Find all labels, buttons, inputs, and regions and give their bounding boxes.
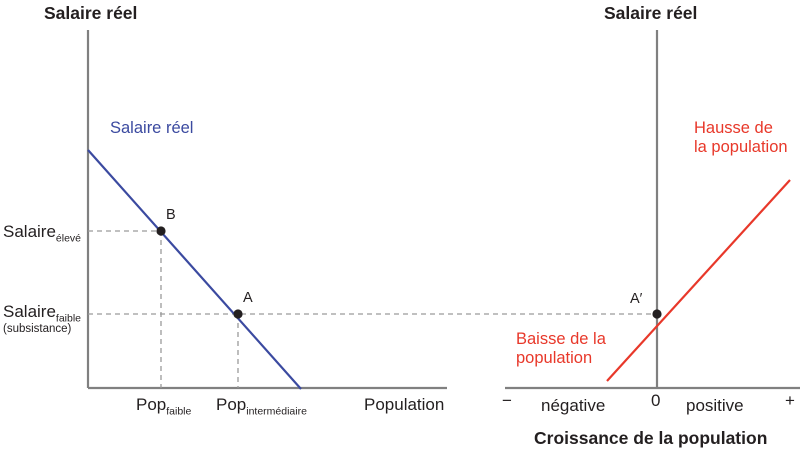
x-label-negative: négative [541,396,605,416]
y-label-salaire-faible: Salairefaible [3,302,81,324]
point-a-prime-label: A′ [630,291,642,308]
x-axis-minus-sign: − [502,391,512,411]
point-a-prime-marker [652,309,661,318]
left-x-axis-name: Population [364,395,444,415]
real-wage-curve-label: Salaire réel [110,119,193,138]
y-label-salaire-eleve: Salaireélevé [3,222,81,244]
right-x-axis-title: Croissance de la population [534,428,767,448]
population-growth-curve [607,180,790,381]
point-b-label: B [166,207,176,224]
point-b-marker [156,226,165,235]
y-label-subsistance-note: (subsistance) [3,323,71,336]
x-label-zero: 0 [651,391,660,411]
x-label-pop-intermediaire: Popintermédiaire [216,395,307,417]
baisse-population-line2: population [516,349,606,368]
x-label-pop-faible-sub: faible [166,405,191,417]
baisse-population-annotation: Baisse de la population [516,330,606,368]
right-panel-title: Salaire réel [604,3,697,23]
real-wage-curve [88,150,301,389]
y-label-salaire-eleve-base: Salaire [3,222,56,241]
y-label-salaire-faible-base: Salaire [3,302,56,321]
hausse-population-annotation: Hausse de la population [694,119,788,157]
economics-figure: Salaire réel Salaire réel Salaireélevé S… [0,0,810,456]
x-axis-plus-sign: + [785,391,795,411]
left-panel-title: Salaire réel [44,3,137,23]
point-a-label: A [243,290,253,307]
baisse-population-line1: Baisse de la [516,330,606,349]
x-label-pop-faible: Popfaible [136,395,191,417]
x-label-pop-intermediaire-base: Pop [216,395,246,414]
hausse-population-line1: Hausse de [694,119,788,138]
figure-canvas [0,0,810,456]
point-a-marker [233,309,242,318]
hausse-population-line2: la population [694,138,788,157]
x-label-positive: positive [686,396,744,416]
y-label-salaire-eleve-sub: élevé [56,232,81,244]
x-label-pop-faible-base: Pop [136,395,166,414]
x-label-pop-intermediaire-sub: intermédiaire [246,405,307,417]
